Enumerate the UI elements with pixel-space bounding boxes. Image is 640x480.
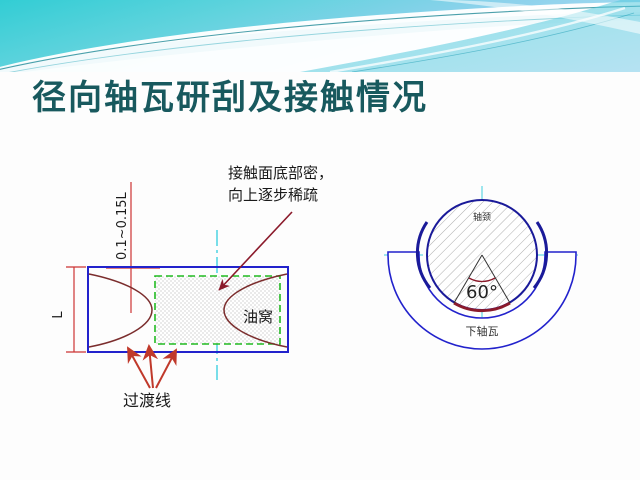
length-dimension-label: L [51, 311, 66, 319]
journal-and-lower-shell-section: 轴颈 60° 下轴瓦 [384, 186, 578, 349]
height-dimension-label: 0.1~0.15L [115, 191, 130, 260]
oil-pocket-curve-left [89, 274, 152, 347]
decorative-wave-banner [0, 0, 640, 72]
contact-note-line-1: 接触面底部密， [228, 164, 333, 182]
angle-label: 60° [466, 282, 498, 303]
page-title: 径向轴瓦研刮及接触情况 [32, 74, 592, 122]
diagram-stage: 0.1~0.15L L 油窝 过渡线 接触面底部密， 向上逐步稀疏 [0, 150, 640, 420]
bearing-shell-plan-view: 0.1~0.15L L 油窝 过渡线 接触面底部密， 向上逐步稀疏 [51, 164, 333, 410]
lower-shell-label: 下轴瓦 [466, 324, 499, 338]
slide-root: 径向轴瓦研刮及接触情况 [0, 0, 640, 480]
transition-arrow-1 [128, 348, 150, 388]
transition-arrow-3 [156, 350, 176, 388]
contact-note-line-2: 向上逐步稀疏 [228, 186, 318, 204]
transition-line-label: 过渡线 [123, 391, 171, 410]
journal-label: 轴颈 [473, 211, 491, 223]
oil-pocket-label: 油窝 [243, 308, 273, 326]
